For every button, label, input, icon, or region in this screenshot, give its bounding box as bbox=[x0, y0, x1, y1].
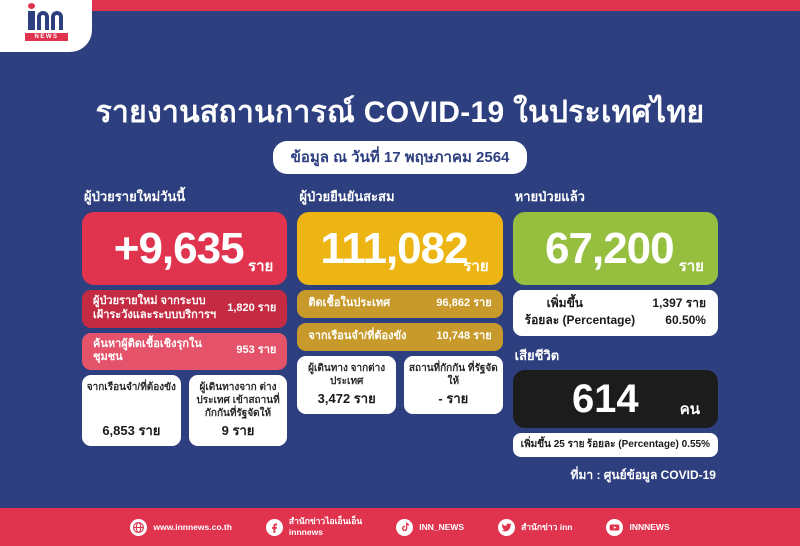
new-cases-detail-boxes: จากเรือนจำ/ที่ต้องขัง 6,853 ราย ผู้เดินท… bbox=[82, 375, 287, 446]
tiktok-icon bbox=[396, 519, 413, 536]
column-cumulative: ผู้ป่วยยืนยันสะสม 111,082 ราย ติดเชื้อใน… bbox=[297, 186, 502, 414]
cumulative-detail-boxes: ผู้เดินทาง จากต่างประเทศ 3,472 ราย สถานท… bbox=[297, 356, 502, 414]
new-cases-prison-box: จากเรือนจำ/ที่ต้องขัง 6,853 ราย bbox=[82, 375, 181, 446]
youtube-icon bbox=[606, 519, 623, 536]
deaths-percent: ร้อยละ (Percentage) 0.55% bbox=[587, 437, 710, 452]
new-cases-active-row: ค้นหาผู้ติดเชื้อเชิงรุกในชุมชน 953 ราย bbox=[82, 333, 287, 371]
recovered-unit: ราย bbox=[679, 254, 704, 278]
logo-letter-n-2 bbox=[51, 11, 63, 30]
cumulative-prison-row: จากเรือนจำ/ที่ต้องขัง 10,748 ราย bbox=[297, 323, 502, 351]
recovered-detail-box: เพิ่มขึ้น 1,397 ราย ร้อยละ (Percentage) … bbox=[513, 290, 718, 336]
footer-website-text: www.innnews.co.th bbox=[153, 522, 232, 533]
report-date-badge: ข้อมูล ณ วันที่ 17 พฤษภาคม 2564 bbox=[273, 141, 528, 174]
logo-letter-i bbox=[28, 11, 35, 30]
new-cases-quarantine-value: 9 ราย bbox=[222, 420, 255, 441]
new-cases-quarantine-label: ผู้เดินทางจาก ต่างประเทศ เข้าสถานที่กักก… bbox=[193, 381, 284, 420]
new-cases-surveillance-value: 1,820 ราย bbox=[227, 302, 276, 316]
recovered-percent-label: ร้อยละ (Percentage) bbox=[525, 312, 636, 329]
footer-item-website[interactable]: www.innnews.co.th bbox=[130, 519, 232, 536]
new-cases-active-value: 953 ราย bbox=[236, 344, 276, 358]
footer-tiktok-text: INN_NEWS bbox=[419, 522, 464, 533]
column-recovered-deaths: หายป่วยแล้ว 67,200 ราย เพิ่มขึ้น 1,397 ร… bbox=[513, 186, 718, 485]
logo-mark bbox=[28, 11, 65, 30]
deaths-value: 614 bbox=[572, 379, 639, 419]
top-accent-strip bbox=[0, 0, 800, 11]
header: รายงานสถานการณ์ COVID-19 ในประเทศไทย ข้อ… bbox=[0, 96, 800, 174]
logo-letter-n-1 bbox=[37, 11, 49, 30]
cumulative-value: 111,082 bbox=[320, 227, 467, 271]
cumulative-label: ผู้ป่วยยืนยันสะสม bbox=[297, 186, 502, 207]
cumulative-unit: ราย bbox=[463, 254, 488, 278]
column-new-cases: ผู้ป่วยรายใหม่วันนี้ +9,635 ราย ผู้ป่วยร… bbox=[82, 186, 287, 446]
page-title: รายงานสถานการณ์ COVID-19 ในประเทศไทย bbox=[0, 96, 800, 131]
deaths-card: 614 คน bbox=[513, 370, 718, 428]
cumulative-prison-label: จากเรือนจำ/ที่ต้องขัง bbox=[308, 330, 436, 344]
new-cases-surveillance-row: ผู้ป่วยรายใหม่ จากระบบเฝ้าระวังและระบบบร… bbox=[82, 290, 287, 328]
stats-board: ผู้ป่วยรายใหม่วันนี้ +9,635 ราย ผู้ป่วยร… bbox=[82, 186, 718, 485]
inn-news-logo: NEWS bbox=[0, 0, 92, 52]
new-cases-card: +9,635 ราย bbox=[82, 212, 287, 285]
cumulative-overseas-box: ผู้เดินทาง จากต่างประเทศ 3,472 ราย bbox=[297, 356, 396, 414]
globe-icon bbox=[130, 519, 147, 536]
cumulative-prison-value: 10,748 ราย bbox=[436, 330, 491, 344]
footer-twitter-text: สำนักข่าว inn bbox=[521, 522, 572, 533]
cumulative-overseas-label: ผู้เดินทาง จากต่างประเทศ bbox=[301, 362, 392, 388]
logo-news-tag: NEWS bbox=[25, 33, 68, 41]
recovered-increase-value: 1,397 ราย bbox=[652, 295, 706, 312]
cumulative-quarantine-value: - ราย bbox=[438, 388, 468, 409]
recovered-percent-line: ร้อยละ (Percentage) 60.50% bbox=[525, 312, 706, 329]
new-cases-active-label: ค้นหาผู้ติดเชื้อเชิงรุกในชุมชน bbox=[93, 338, 236, 366]
footer-bar: www.innnews.co.th สำนักข่าวไอเอ็นเอ็น in… bbox=[0, 508, 800, 546]
stats-columns: ผู้ป่วยรายใหม่วันนี้ +9,635 ราย ผู้ป่วยร… bbox=[82, 186, 718, 485]
recovered-label: หายป่วยแล้ว bbox=[513, 186, 718, 207]
cumulative-domestic-label: ติดเชื้อในประเทศ bbox=[308, 297, 436, 311]
cumulative-domestic-row: ติดเชื้อในประเทศ 96,862 ราย bbox=[297, 290, 502, 318]
recovered-increase-label: เพิ่มขึ้น bbox=[525, 295, 583, 312]
footer-youtube-text: INNNEWS bbox=[629, 522, 669, 533]
new-cases-unit: ราย bbox=[248, 254, 273, 278]
footer-item-twitter[interactable]: สำนักข่าว inn bbox=[498, 519, 572, 536]
footer-facebook-text: สำนักข่าวไอเอ็นเอ็น innnews bbox=[289, 516, 362, 537]
deaths-increase: เพิ่มขึ้น 25 ราย bbox=[521, 437, 585, 452]
footer-item-youtube[interactable]: INNNEWS bbox=[606, 519, 669, 536]
deaths-unit: คน bbox=[680, 397, 700, 421]
deaths-detail-box: เพิ่มขึ้น 25 ราย ร้อยละ (Percentage) 0.5… bbox=[513, 433, 718, 457]
facebook-icon bbox=[266, 519, 283, 536]
cumulative-card: 111,082 ราย bbox=[297, 212, 502, 285]
footer-item-tiktok[interactable]: INN_NEWS bbox=[396, 519, 464, 536]
cumulative-quarantine-label: สถานที่กักกัน ที่รัฐจัดให้ bbox=[408, 362, 499, 388]
cumulative-quarantine-box: สถานที่กักกัน ที่รัฐจัดให้ - ราย bbox=[404, 356, 503, 414]
source-attribution: ที่มา : ศูนย์ข้อมูล COVID-19 bbox=[513, 466, 718, 485]
recovered-percent-value: 60.50% bbox=[665, 312, 706, 329]
new-cases-value: +9,635 bbox=[114, 227, 244, 271]
recovered-card: 67,200 ราย bbox=[513, 212, 718, 285]
deaths-label: เสียชีวิต bbox=[515, 345, 718, 366]
cumulative-domestic-value: 96,862 ราย bbox=[436, 297, 491, 311]
new-cases-prison-value: 6,853 ราย bbox=[102, 420, 160, 441]
twitter-icon bbox=[498, 519, 515, 536]
footer-item-facebook[interactable]: สำนักข่าวไอเอ็นเอ็น innnews bbox=[266, 516, 362, 537]
new-cases-label: ผู้ป่วยรายใหม่วันนี้ bbox=[82, 186, 287, 207]
new-cases-surveillance-label: ผู้ป่วยรายใหม่ จากระบบเฝ้าระวังและระบบบร… bbox=[93, 295, 227, 323]
recovered-increase-line: เพิ่มขึ้น 1,397 ราย bbox=[525, 295, 706, 312]
new-cases-quarantine-box: ผู้เดินทางจาก ต่างประเทศ เข้าสถานที่กักก… bbox=[189, 375, 288, 446]
new-cases-prison-label: จากเรือนจำ/ที่ต้องขัง bbox=[87, 381, 176, 394]
cumulative-overseas-value: 3,472 ราย bbox=[318, 388, 376, 409]
recovered-value: 67,200 bbox=[545, 227, 674, 271]
